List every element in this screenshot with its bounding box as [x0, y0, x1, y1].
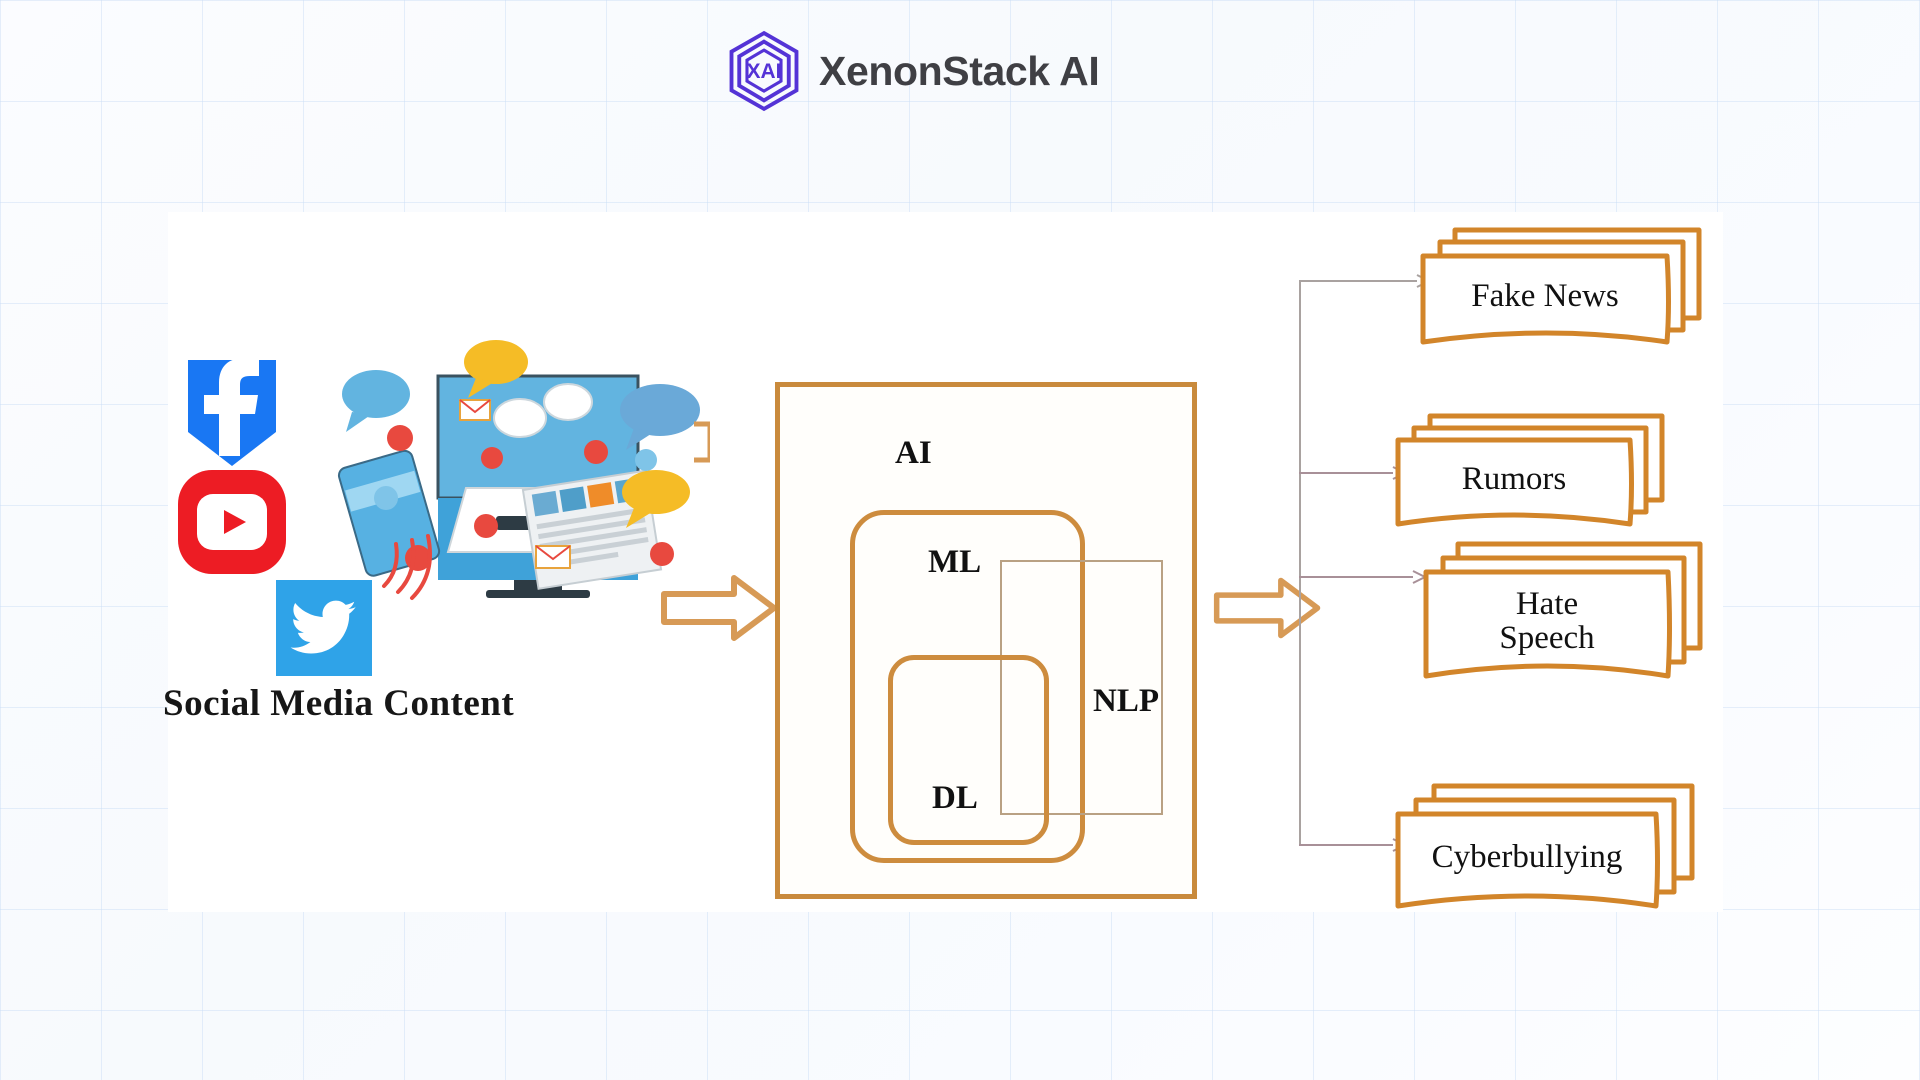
output-label-rumors: Rumors [1398, 440, 1630, 518]
output-stack-hate-speech: Hate Speech [1418, 536, 1708, 694]
social-media-input-group: Social Media Content [168, 212, 728, 772]
devices-and-chat-bubbles-illustration [290, 340, 710, 640]
output-stack-rumors: Rumors [1390, 408, 1670, 538]
input-label: Social Media Content [163, 682, 593, 725]
youtube-icon [174, 466, 290, 578]
brand-name: XenonStack AI [819, 48, 1099, 95]
output-stack-fake-news: Fake News [1415, 222, 1705, 357]
output-label-hate-speech: Hate Speech [1426, 572, 1668, 670]
diagram-panel: Social Media Content AI ML NLP DL [168, 212, 1723, 912]
output-label-cyberbullying: Cyberbullying [1398, 814, 1656, 900]
ml-label: ML [928, 544, 981, 581]
xenonstack-hexagon-xai-logo: XAI [725, 30, 803, 112]
output-distribution-line [1299, 280, 1301, 845]
nlp-label: NLP [1093, 683, 1159, 720]
brand-header: XAI XenonStack AI [725, 30, 1099, 112]
dl-label: DL [932, 780, 978, 817]
svg-text:XAI: XAI [747, 60, 782, 83]
branch-arrow-fake-news [1299, 274, 1429, 288]
ai-label: AI [895, 435, 932, 472]
ai-outer-box: AI ML NLP DL [775, 382, 1197, 899]
output-label-fake-news: Fake News [1423, 256, 1667, 336]
output-stack-cyberbullying: Cyberbullying [1390, 778, 1700, 918]
branch-arrow-hate-speech [1299, 570, 1425, 584]
facebook-icon [178, 352, 286, 470]
arrow-input-to-model [660, 572, 780, 644]
